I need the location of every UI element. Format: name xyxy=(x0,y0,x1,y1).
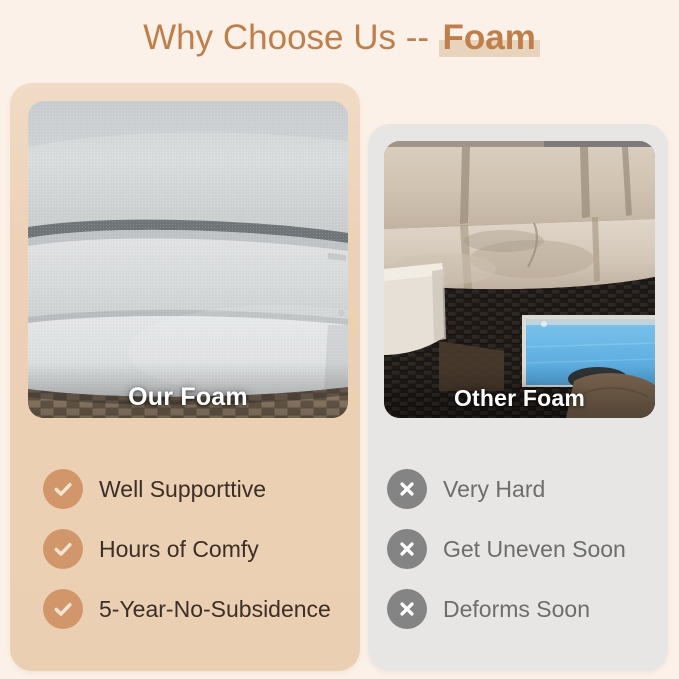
our-foam-caption: Our Foam xyxy=(28,383,348,412)
cross-circle-icon xyxy=(387,469,427,509)
feature-label: Deforms Soon xyxy=(443,596,590,623)
feature-row: Well Supporttive xyxy=(43,459,353,519)
other-foam-feature-list: Very Hard Get Uneven Soon Deforms Soon xyxy=(387,459,667,639)
feature-label: Hours of Comfy xyxy=(99,536,259,563)
check-circle-icon xyxy=(43,469,83,509)
check-circle-icon xyxy=(43,529,83,569)
feature-label: Get Uneven Soon xyxy=(443,536,626,563)
our-foam-image xyxy=(28,101,348,418)
other-foam-photo: Other Foam xyxy=(384,141,655,418)
our-foam-photo: Our Foam xyxy=(28,101,348,418)
other-foam-caption: Other Foam xyxy=(384,385,655,412)
feature-label: Very Hard xyxy=(443,476,545,503)
page-title: Why Choose Us -- Foam xyxy=(0,18,679,58)
feature-row: Very Hard xyxy=(387,459,667,519)
check-circle-icon xyxy=(43,589,83,629)
other-foam-image xyxy=(384,141,655,418)
feature-row: Get Uneven Soon xyxy=(387,519,667,579)
page-title-highlight-wrap: Foam xyxy=(443,18,536,58)
feature-row: Hours of Comfy xyxy=(43,519,353,579)
feature-label: Well Supporttive xyxy=(99,476,266,503)
feature-row: 5-Year-No-Subsidence xyxy=(43,579,353,639)
cross-circle-icon xyxy=(387,589,427,629)
page-title-emphasis: Foam xyxy=(443,18,536,57)
cross-circle-icon xyxy=(387,529,427,569)
feature-row: Deforms Soon xyxy=(387,579,667,639)
our-foam-feature-list: Well Supporttive Hours of Comfy 5-Year-N… xyxy=(43,459,353,639)
feature-label: 5-Year-No-Subsidence xyxy=(99,596,331,623)
page-title-regular: Why Choose Us -- xyxy=(143,18,429,57)
